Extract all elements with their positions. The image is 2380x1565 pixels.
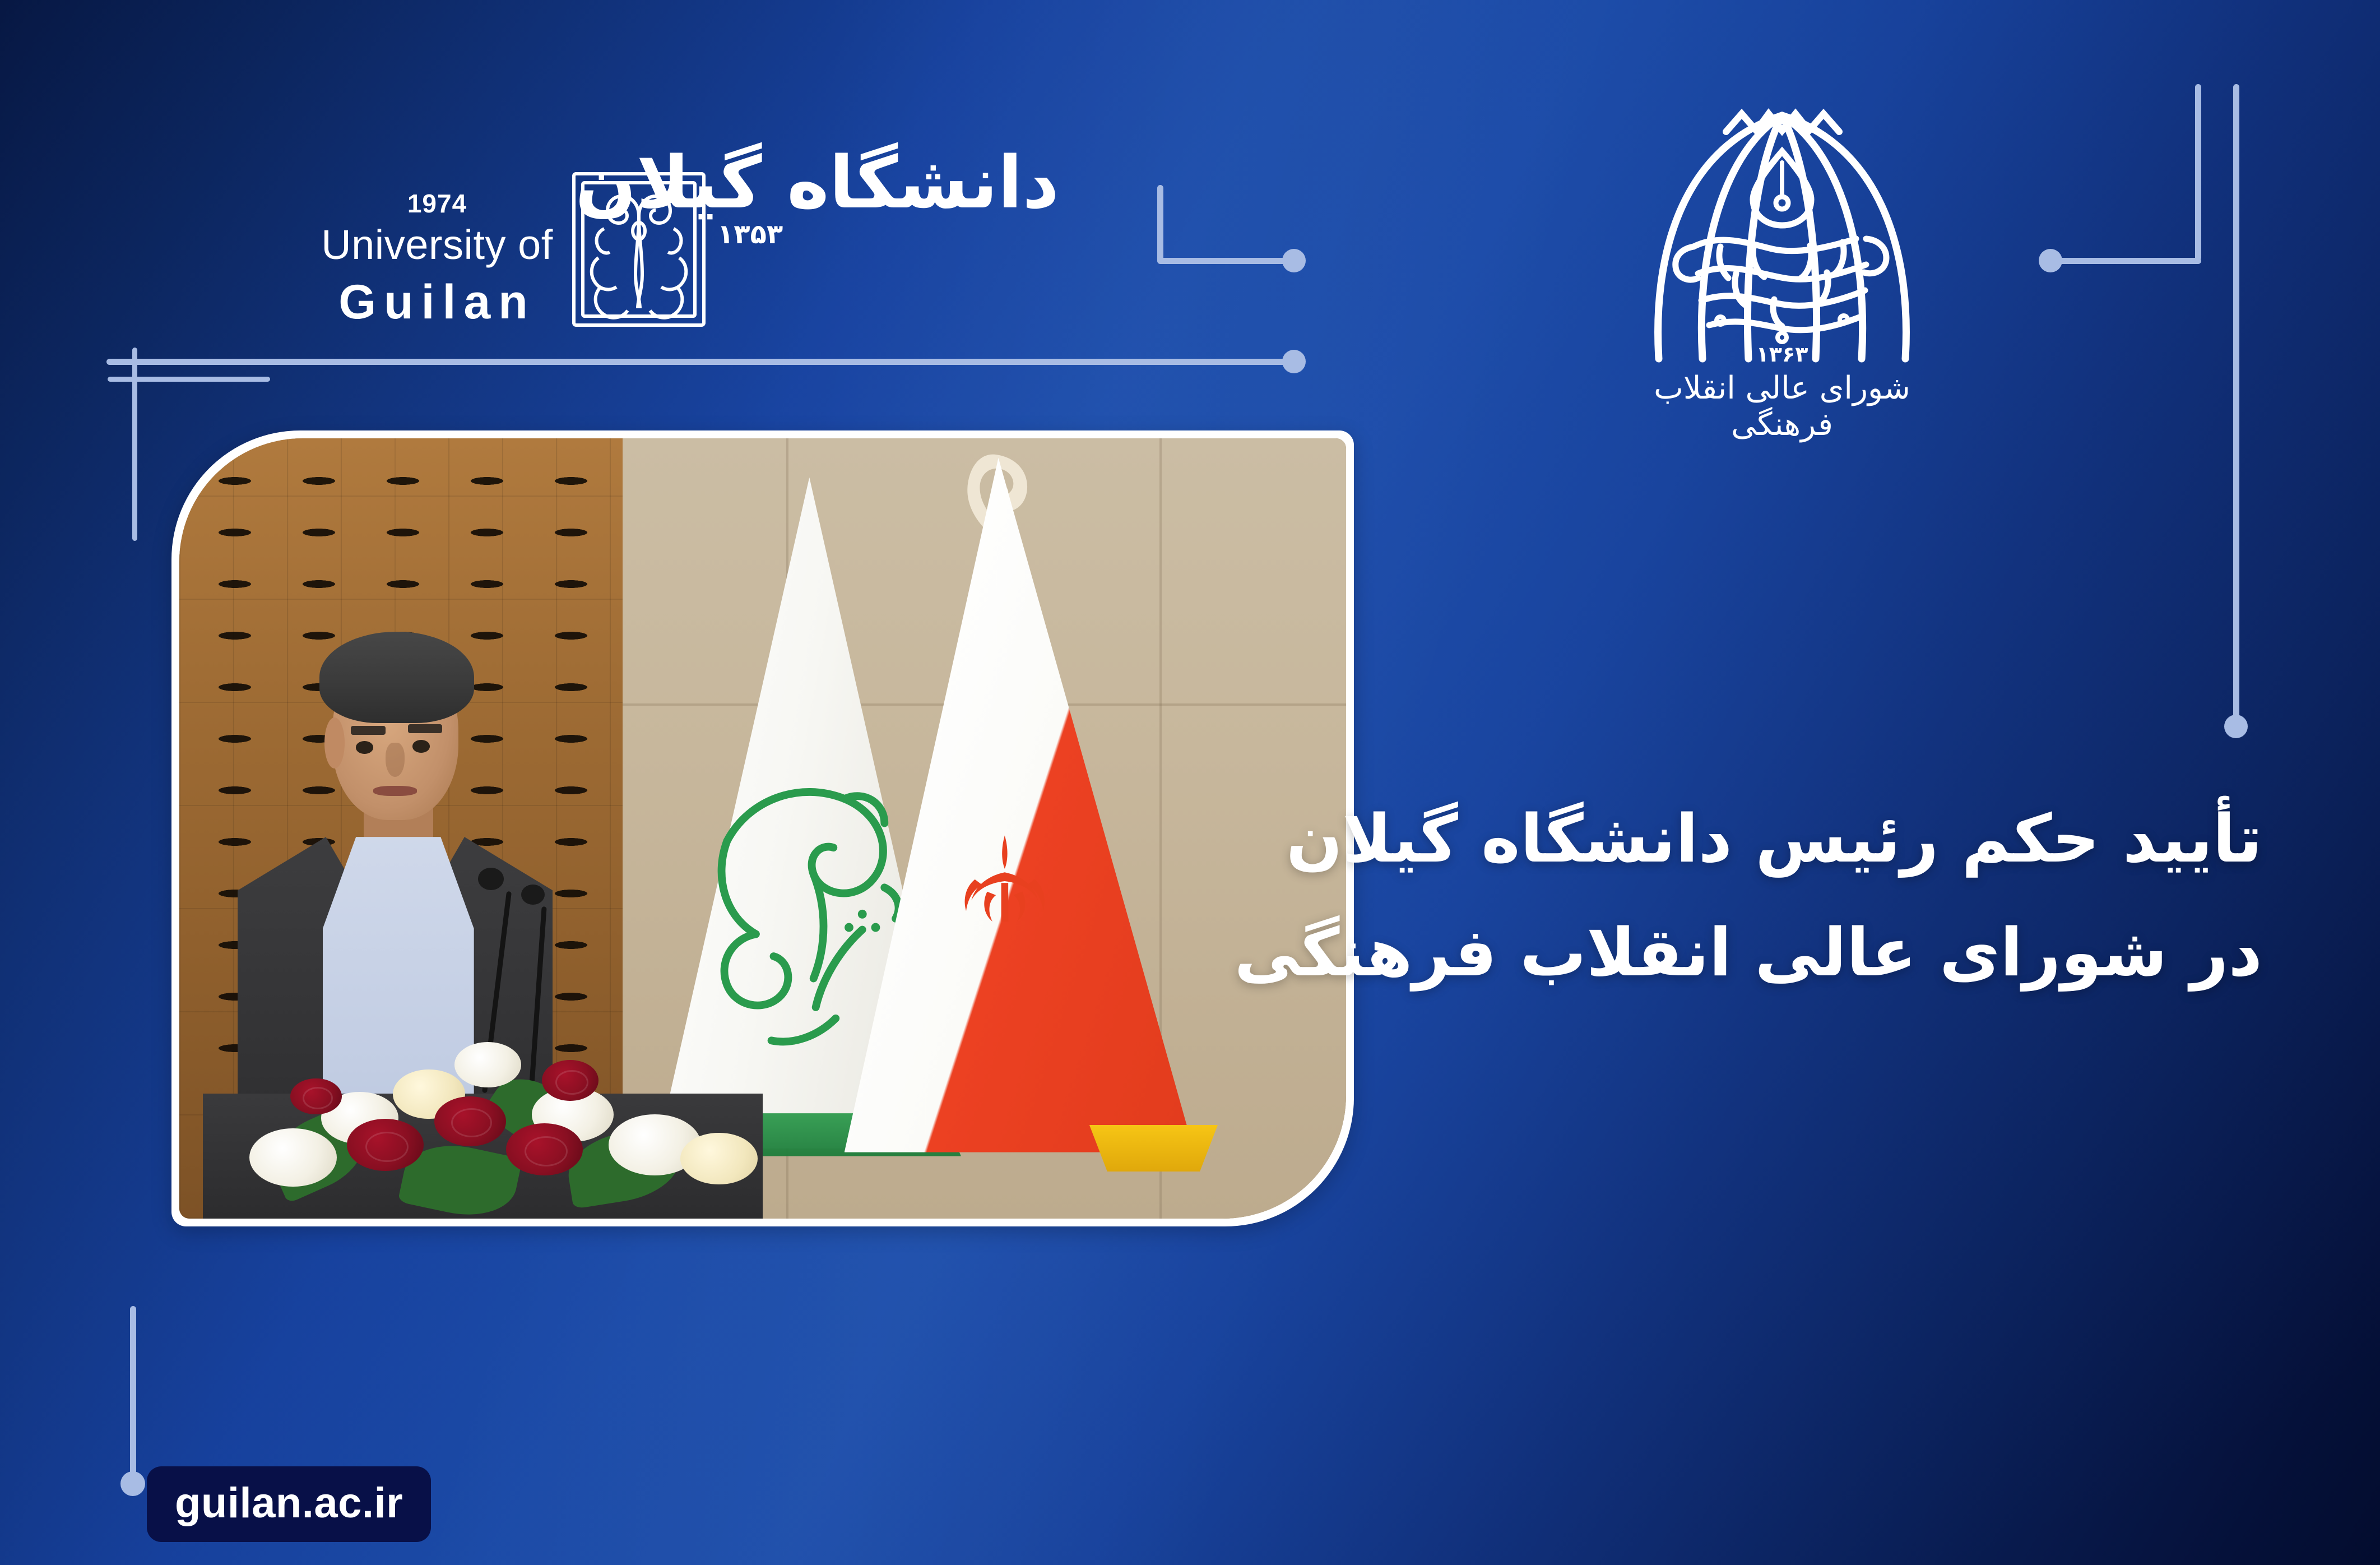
decor-dot-lower-left bbox=[1282, 350, 1306, 373]
speaker-eye-right bbox=[412, 740, 430, 752]
news-photo-frame bbox=[171, 430, 1354, 1226]
supreme-council-year: ۱۳۶۳ bbox=[1642, 342, 1922, 367]
founding-year-latin: 1974 bbox=[319, 191, 555, 216]
photo-flower-bouquet bbox=[249, 992, 763, 1219]
iran-flag-fringe bbox=[1089, 1125, 1218, 1172]
iran-flag-emblem bbox=[949, 828, 1060, 934]
decor-line-bracket-vertical-b bbox=[2195, 84, 2201, 261]
decor-dot-right-vertical bbox=[2224, 715, 2248, 738]
speaker-eye-left bbox=[356, 741, 373, 753]
headline-line-2: در شورای عالی انقلاب فرهنگی bbox=[1209, 896, 2262, 1010]
speaker-brow-left bbox=[351, 726, 386, 735]
speaker-hair bbox=[319, 632, 474, 723]
supreme-council-caption: شورای عالی انقلاب فرهنگی bbox=[1642, 370, 1922, 443]
supreme-council-of-cultural-revolution-logo: ۱۳۶۳ شورای عالی انقلاب فرهنگی bbox=[1642, 78, 1922, 471]
bouquet-red-rose bbox=[347, 1119, 424, 1171]
bouquet-red-rose bbox=[290, 1078, 342, 1115]
bouquet-white-flower bbox=[249, 1128, 337, 1187]
university-word-label: University of bbox=[319, 224, 555, 266]
banner-canvas: 1974 University of Guilan ۱۳۵۳ د bbox=[0, 0, 2380, 1565]
decor-line-bracket-horizontal-b bbox=[2051, 258, 2201, 264]
decor-dot-badge bbox=[120, 1471, 145, 1496]
microphone-head-left bbox=[478, 868, 504, 890]
university-of-guilan-latin-block: 1974 University of Guilan bbox=[319, 191, 555, 326]
bouquet-red-rose bbox=[542, 1060, 599, 1101]
bouquet-white-flower bbox=[454, 1042, 521, 1087]
guilan-word-label: Guilan bbox=[319, 278, 555, 326]
headline: تأیید حکم رئیس دانشگاه گیلان در شورای عا… bbox=[1209, 782, 2262, 1010]
crosshair-vertical-line bbox=[132, 348, 137, 541]
bouquet-red-rose bbox=[434, 1096, 506, 1146]
speaker-brow-right bbox=[408, 724, 443, 733]
university-of-guilan-logo: 1974 University of Guilan ۱۳۵۳ د bbox=[291, 151, 1059, 336]
news-photo bbox=[179, 438, 1346, 1219]
headline-line-1: تأیید حکم رئیس دانشگاه گیلان bbox=[1209, 782, 2262, 896]
dome-calligraphy-icon bbox=[1642, 78, 1922, 364]
microphone-head-right bbox=[521, 885, 545, 905]
decor-line-badge-vertical bbox=[130, 1306, 136, 1480]
decor-line-right-vertical bbox=[2233, 84, 2239, 726]
speaker-ear bbox=[324, 717, 345, 768]
decor-line-bracket-vertical-a bbox=[1157, 185, 1163, 263]
university-of-guilan-persian-name: دانشگاه گیلان bbox=[575, 141, 1059, 225]
decor-line-long-horizontal bbox=[106, 359, 1295, 365]
bouquet-red-rose bbox=[506, 1123, 583, 1175]
decor-line-bracket-horizontal-a bbox=[1157, 258, 1297, 264]
decor-dot-upper-left bbox=[1282, 249, 1306, 272]
website-url-badge[interactable]: guilan.ac.ir bbox=[147, 1466, 431, 1542]
speaker-mouth bbox=[373, 786, 417, 796]
bouquet-cream-flower bbox=[680, 1133, 757, 1185]
